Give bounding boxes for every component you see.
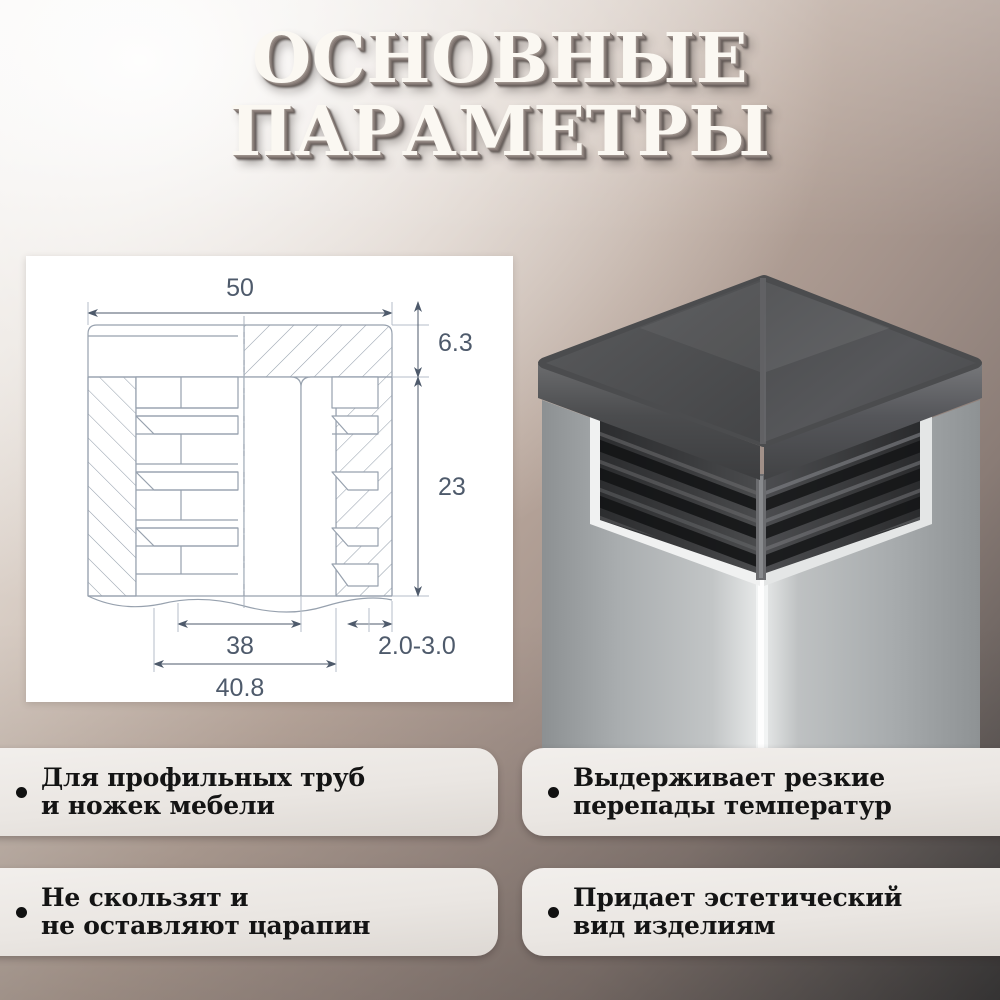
feature-text-1: Для профильных труб и ножек мебели <box>41 764 365 820</box>
infographic-page: ОСНОВНЫЕ ПАРАМЕТРЫ <box>0 0 1000 1000</box>
technical-drawing-svg: 50 6.3 23 38 2.0-3.0 40.8 <box>26 256 513 702</box>
feature-text-3: Не скользят и не оставляют царапин <box>41 884 370 940</box>
dim-label-body-height: 23 <box>438 473 466 501</box>
technical-drawing-panel: 50 6.3 23 38 2.0-3.0 40.8 <box>26 256 513 702</box>
product-photo <box>520 268 1000 754</box>
bullet-dot-icon <box>548 907 559 918</box>
dim-label-cap-height: 6.3 <box>438 329 473 357</box>
feature-pill-3: Не скользят и не оставляют царапин <box>0 868 498 956</box>
part-outline <box>88 325 392 612</box>
feature-pill-2: Выдерживает резкие перепады температур <box>522 748 1000 836</box>
dim-label-outer-width: 40.8 <box>216 674 265 702</box>
feature-pill-1: Для профильных труб и ножек мебели <box>0 748 498 836</box>
page-title: ОСНОВНЫЕ ПАРАМЕТРЫ <box>0 26 1000 165</box>
feature-pill-4: Придает эстетический вид изделиям <box>522 868 1000 956</box>
feature-text-4: Придает эстетический вид изделиям <box>573 884 902 940</box>
bullet-dot-icon <box>16 787 27 798</box>
title-line-2: ПАРАМЕТРЫ <box>0 99 1000 166</box>
feature-text-2: Выдерживает резкие перепады температур <box>573 764 892 820</box>
bullet-dot-icon <box>16 907 27 918</box>
bullet-dot-icon <box>548 787 559 798</box>
dim-label-wall-thick: 2.0-3.0 <box>378 632 456 660</box>
title-line-1: ОСНОВНЫЕ <box>0 26 1000 93</box>
dim-label-inner-width: 38 <box>226 632 254 660</box>
product-illustration-svg <box>520 268 1000 754</box>
dim-label-width-top: 50 <box>226 274 254 302</box>
